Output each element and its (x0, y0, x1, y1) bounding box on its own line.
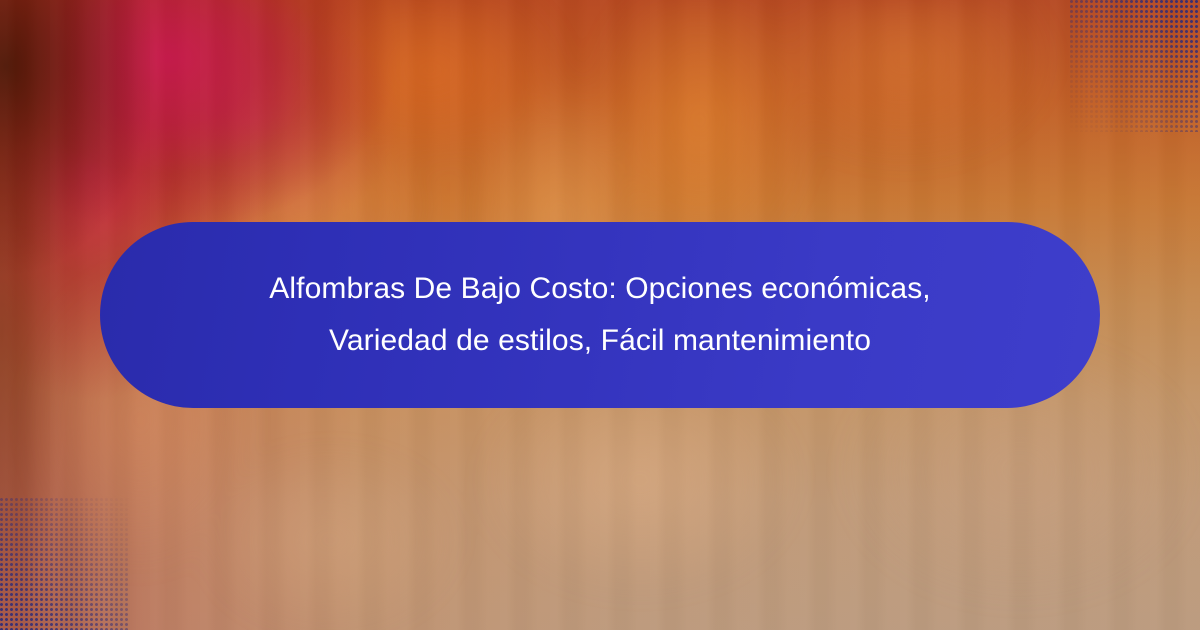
social-share-card: Alfombras De Bajo Costo: Opciones económ… (0, 0, 1200, 630)
title-pill-banner: Alfombras De Bajo Costo: Opciones económ… (100, 222, 1100, 408)
dot-grid-top-right-decoration (1070, 0, 1200, 132)
dot-pattern (1070, 0, 1200, 132)
page-title: Alfombras De Bajo Costo: Opciones económ… (269, 263, 930, 367)
dot-pattern (0, 498, 130, 630)
dot-grid-bottom-left-decoration (0, 498, 130, 630)
